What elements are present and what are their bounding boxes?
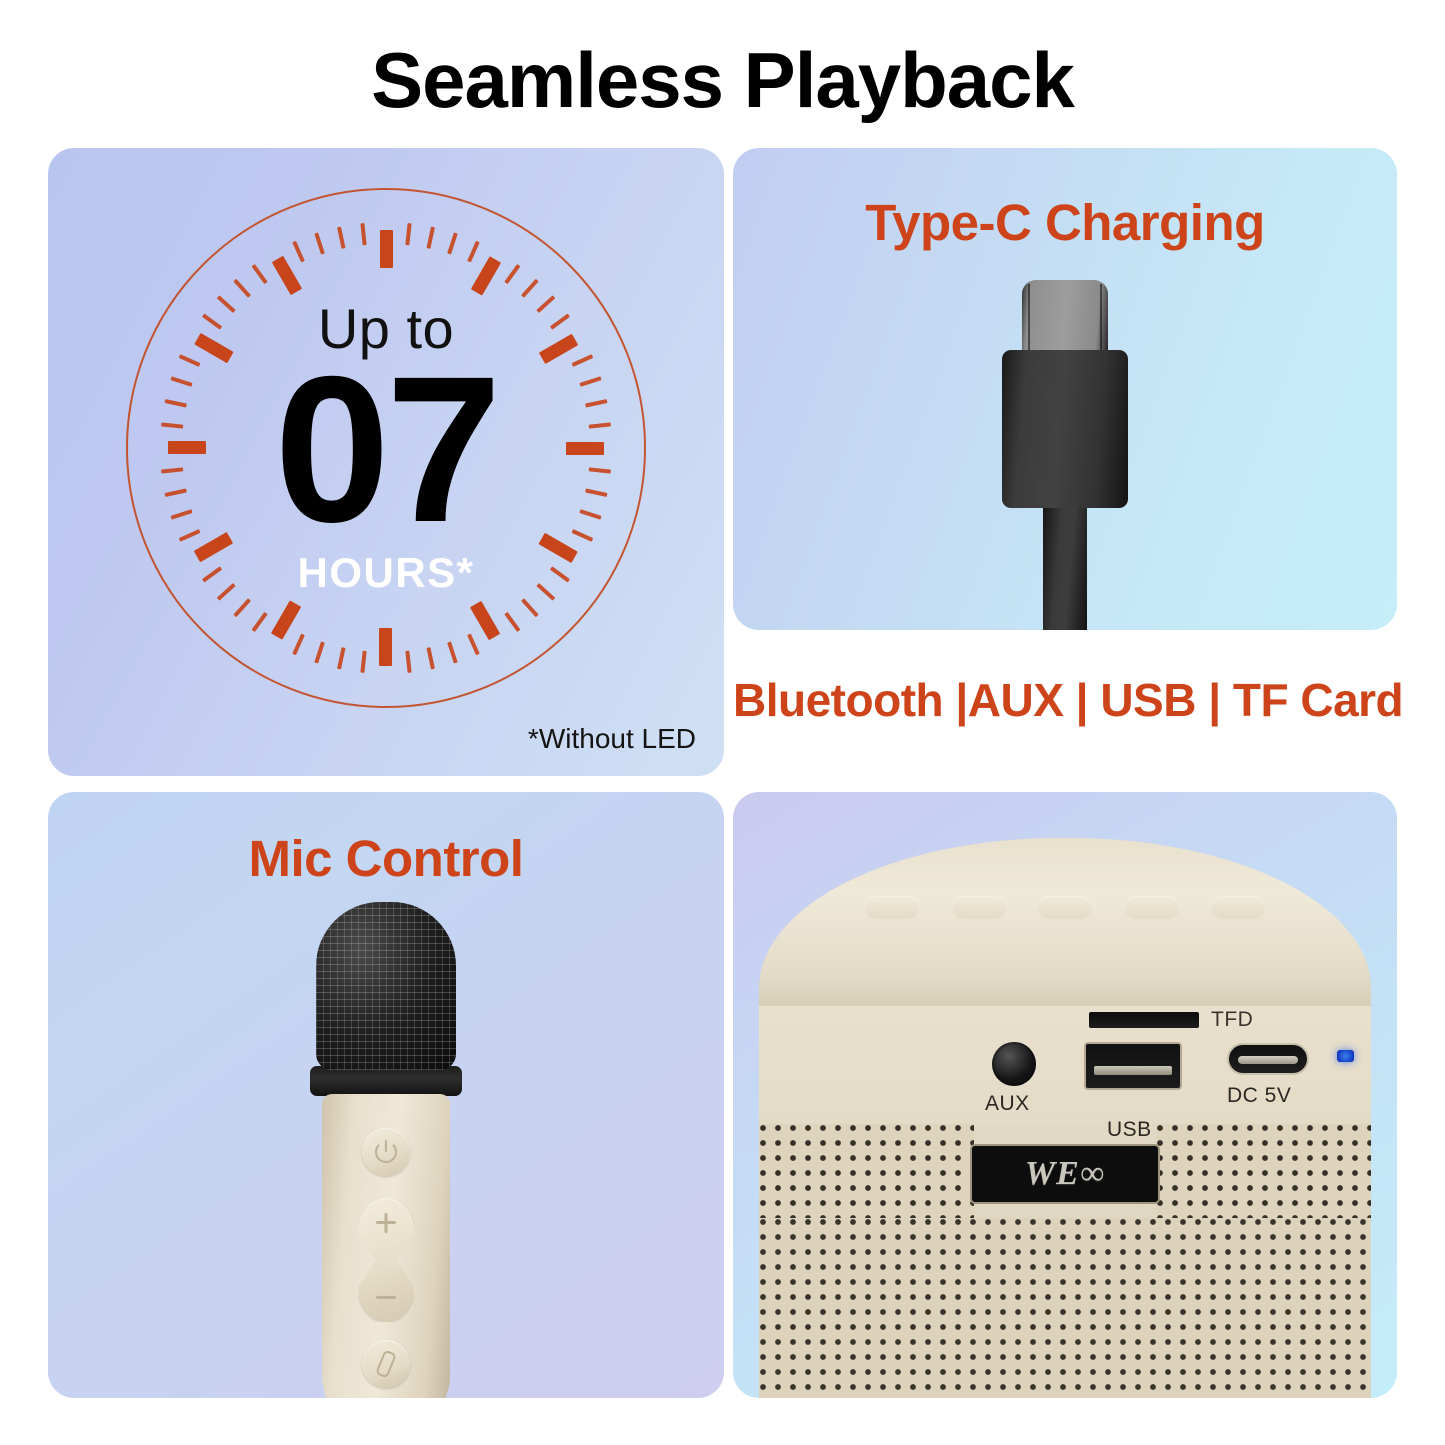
usb-port[interactable] [1084,1042,1182,1090]
emboss-5 [1211,896,1265,918]
emboss-1 [865,896,919,918]
usb-c-tip [1022,280,1108,354]
power-icon[interactable] [362,1128,410,1176]
tf-card-slot[interactable] [1089,1012,1199,1028]
status-led [1337,1050,1354,1062]
emboss-4 [1125,896,1179,918]
battery-footnote: *Without LED [528,722,696,756]
infographic-page: Seamless Playback Up to 07 HOURS* *Witho… [0,0,1445,1445]
port-row: AUX USB TFD DC 5V [759,1006,1371,1124]
aux-port[interactable] [992,1042,1036,1086]
plus-minus-icon[interactable] [358,1198,414,1322]
hours-value: 07 [274,352,497,548]
microphone-graphic [306,902,466,1398]
speaker-front-face: AUX USB TFD DC 5V WE∞ [759,1006,1371,1398]
emboss-3 [1038,896,1092,918]
mic-body [322,1094,450,1398]
clock-dial-graphic: Up to 07 HOURS* [126,188,646,708]
brand-badge: WE∞ [970,1144,1160,1204]
mic-grille-head [316,902,456,1070]
usb-c-cable [1043,506,1087,630]
dc-power-port[interactable] [1227,1043,1309,1075]
speaker-ports-panel: AUX USB TFD DC 5V WE∞ [733,792,1397,1398]
tf-card-label: TFD [1211,1008,1253,1032]
mic-collar-ring [310,1066,462,1096]
speaker-grille-main [759,1218,1371,1398]
page-title: Seamless Playback [0,34,1445,126]
dc-power-label: DC 5V [1227,1084,1291,1108]
type-c-charging-panel: Type-C Charging [733,148,1397,630]
speaker-top-dome [759,838,1371,1016]
usb-port-label: USB [1107,1118,1152,1142]
speaker-emboss-buttons [865,896,1265,918]
battery-life-panel: Up to 07 HOURS* *Without LED [48,148,724,776]
mic-control-panel: Mic Control [48,792,724,1398]
brand-logo: WE∞ [1025,1155,1105,1193]
emboss-2 [952,896,1006,918]
volume-up-icon[interactable] [376,1221,396,1224]
usb-c-connector-icon [1000,280,1130,630]
connectivity-line: Bluetooth |AUX | USB | TF Card [733,672,1397,728]
speaker-graphic: AUX USB TFD DC 5V WE∞ [759,838,1371,1398]
volume-down-icon[interactable] [376,1296,396,1299]
aux-port-label: AUX [985,1092,1030,1116]
clock-center-text: Up to 07 HOURS* [126,188,646,708]
hours-label: HOURS* [297,550,474,596]
speaker-grille-left [759,1124,974,1218]
type-c-heading: Type-C Charging [733,194,1397,252]
speaker-grille-right [1156,1124,1371,1218]
mic-control-heading: Mic Control [48,830,724,888]
usb-c-housing [1002,350,1128,508]
microphone-icon[interactable] [362,1340,410,1388]
